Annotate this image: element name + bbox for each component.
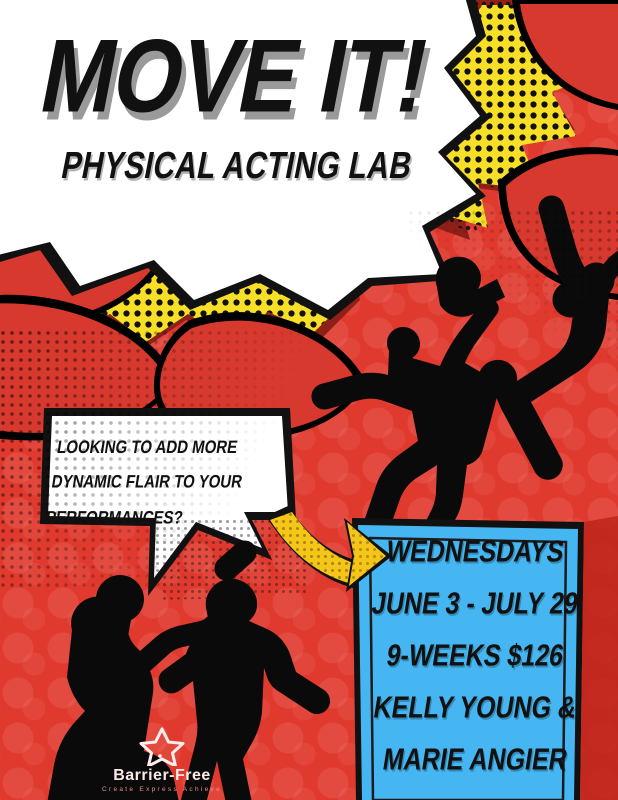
halftone-texture-top-right [408, 210, 618, 360]
halftone-texture-left [0, 330, 330, 590]
info-panel-blue [352, 518, 584, 800]
panel-right-red-strip [580, 516, 618, 800]
poster-canvas: MOVE IT! PHYSICAL ACTING LAB LOOKING TO … [0, 0, 618, 800]
